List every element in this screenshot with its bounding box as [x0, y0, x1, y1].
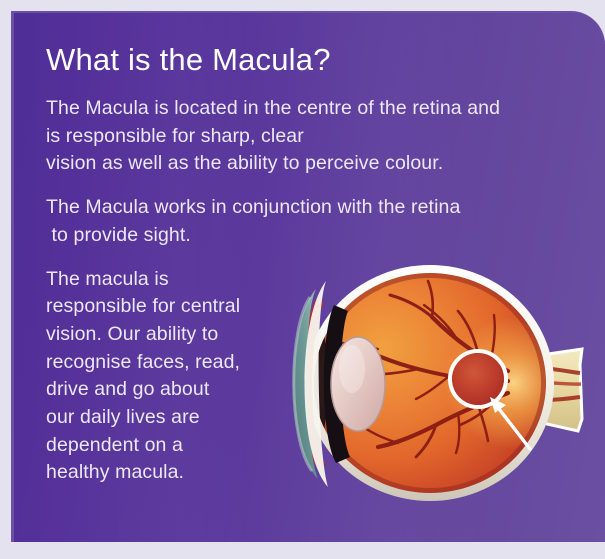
slide-root: What is the Macula? The Macula is locate…: [0, 0, 605, 559]
paragraph-3-line-1: The macula is: [46, 266, 286, 294]
paragraph-3-line-5: drive and go about: [46, 376, 286, 404]
paragraph-2-line-1: The Macula works in conjunction with the…: [46, 194, 566, 222]
paragraph-1: The Macula is located in the centre of t…: [46, 95, 566, 178]
paragraph-3-line-8: healthy macula.: [46, 459, 286, 487]
paragraph-3-line-4: recognise faces, read,: [46, 349, 286, 377]
page-title: What is the Macula?: [46, 43, 566, 77]
paragraph-3-line-6: our daily lives are: [46, 404, 286, 432]
paragraph-3-line-2: responsible for central: [46, 293, 286, 321]
text-column: What is the Macula? The Macula is locate…: [46, 43, 566, 503]
paragraph-2: The Macula works in conjunction with the…: [46, 194, 566, 249]
paragraph-1-line-2: is responsible for sharp, clear: [46, 123, 566, 151]
paragraph-3: The macula is responsible for central vi…: [46, 266, 286, 488]
info-card: What is the Macula? The Macula is locate…: [14, 13, 605, 542]
paragraph-1-line-3: vision as well as the ability to perceiv…: [46, 150, 566, 178]
paragraph-3-line-3: vision. Our ability to: [46, 321, 286, 349]
paragraph-1-line-1: The Macula is located in the centre of t…: [46, 95, 566, 123]
paragraph-2-line-2: to provide sight.: [46, 222, 566, 250]
paragraph-3-line-7: dependent on a: [46, 432, 286, 460]
